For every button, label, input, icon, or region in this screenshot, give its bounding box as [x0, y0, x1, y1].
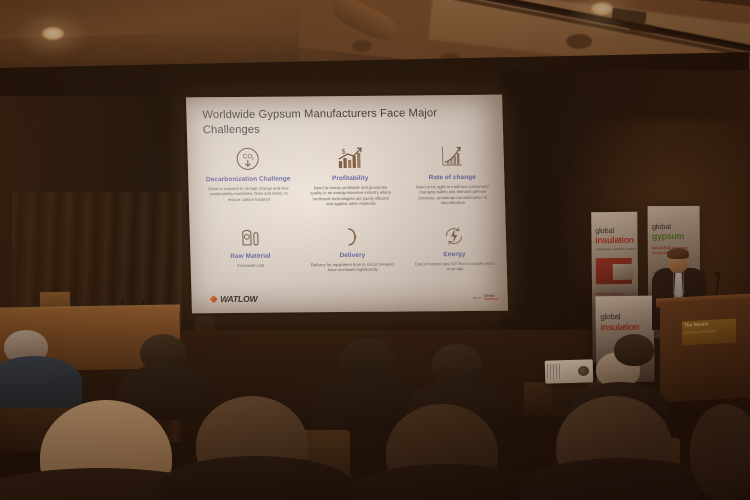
svg-text:$: $ [341, 147, 345, 156]
speaker-hair [667, 248, 689, 259]
projection-screen: Worldwide Gypsum Manufacturers Face Majo… [183, 92, 511, 317]
podium-microphone-head [714, 272, 721, 277]
slide-top-row: CO 2 Decarbonization Challenge Need to r… [201, 142, 499, 208]
ceiling-speaker-grille [352, 40, 372, 52]
delivery-clock-icon [306, 224, 399, 251]
slide-item-title: Energy [408, 251, 500, 260]
conference-room-scene: global insulation conference, exhibition… [0, 0, 750, 500]
slide-item-title: Rate of change [406, 174, 498, 183]
watlow-diamond-icon [209, 295, 217, 303]
slide-item-body: Increased cost [205, 262, 297, 268]
podium [660, 298, 750, 403]
energy-bolt-icon [408, 223, 501, 250]
slide-item-body: Need to remain profitable and guarantee … [304, 184, 397, 207]
slide-item-title: Raw Material [204, 252, 296, 261]
audience-shoulders [350, 464, 542, 500]
slide-bottom-row: Raw Material Increased cost Delivery Del… [204, 223, 501, 274]
slide-item-body: Need to be agile to embrace consumers' c… [406, 184, 499, 207]
raw-material-bag-icon [204, 224, 297, 251]
slide-item-body: Delivery for equipment from to circuit b… [307, 261, 399, 273]
ceiling-speaker-grille [566, 34, 592, 49]
slide-item-profitability: $ Profitability Need to remai [303, 143, 397, 208]
audience-head [614, 334, 654, 366]
credit-logo: Global Gypsum [484, 295, 498, 302]
slide-item-body: Need to respond to climate change and ne… [202, 185, 294, 202]
projector-vent [547, 364, 561, 379]
credit-prefix: about [473, 296, 482, 300]
audience-shoulders [0, 356, 82, 408]
ceiling-downlight [42, 27, 64, 40]
slide-title: Worldwide Gypsum Manufacturers Face Majo… [202, 106, 468, 138]
credit-line2: Gypsum [484, 298, 498, 302]
audience-head-foreground [690, 404, 750, 500]
slide-item-delivery: Delivery Delivery for equipment from to … [306, 224, 399, 274]
slide-item-rate-of-change: Rate of change Need to be agile to embra… [405, 142, 499, 207]
growth-curve-chart-icon [405, 142, 498, 173]
slide-item-title: Delivery [306, 252, 398, 261]
slide-item-energy: Energy Cost of natural gas X10 from a co… [408, 223, 501, 273]
slide-item-raw-material: Raw Material Increased cost [204, 224, 297, 268]
dollar-bar-chart-icon: $ [303, 143, 396, 174]
slide-item-title: Decarbonization Challenge [202, 175, 294, 184]
speaker-lanyard [673, 272, 684, 298]
ceiling-downlight [591, 2, 613, 15]
watlow-logo: WATLOW [209, 294, 257, 304]
watlow-wordmark: WATLOW [220, 294, 258, 304]
screen-surface: Worldwide Gypsum Manufacturers Face Majo… [186, 95, 508, 314]
svg-text:2: 2 [252, 156, 255, 161]
presentation-slide: Worldwide Gypsum Manufacturers Face Majo… [186, 95, 508, 314]
slide-item-title: Profitability [304, 175, 396, 184]
slide-credit: about Global Gypsum [473, 295, 498, 302]
slide-item-decarbonization: CO 2 Decarbonization Challenge Need to r… [201, 143, 295, 202]
slide-item-body: Cost of natural gas X10 from a couple ye… [409, 260, 501, 272]
co2-reduction-icon: CO 2 [201, 143, 294, 174]
